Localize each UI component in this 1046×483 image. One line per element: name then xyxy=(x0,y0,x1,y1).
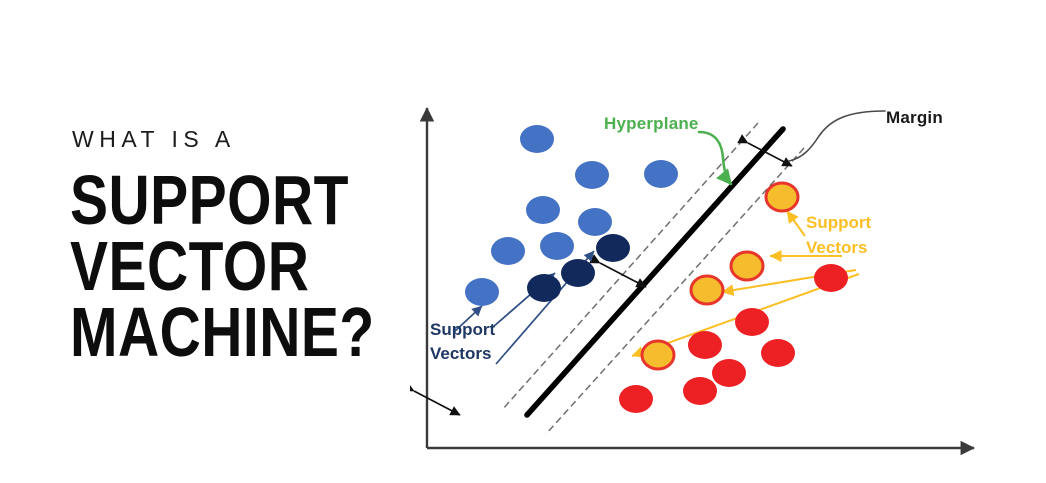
svm-chart-svg xyxy=(410,88,1040,468)
support-vector-blue xyxy=(596,234,630,262)
support-vector-blue xyxy=(561,259,595,287)
data-point-red xyxy=(683,377,717,405)
support-vectors-label-blue: Support Vectors xyxy=(430,318,495,366)
yellow-arrow-up xyxy=(787,211,805,236)
margin-line-lower xyxy=(546,148,804,434)
data-point-blue xyxy=(644,160,678,188)
data-point-blue xyxy=(578,208,612,236)
support-vector-yellow xyxy=(642,341,674,369)
data-point-blue xyxy=(526,196,560,224)
data-point-red xyxy=(712,359,746,387)
margin-leader-line xyxy=(789,111,885,161)
margin-label: Margin xyxy=(886,108,943,128)
title-line-2: VECTOR xyxy=(70,234,309,301)
title-line-3: MACHINE? xyxy=(70,300,375,367)
data-point-red xyxy=(619,385,653,413)
data-point-blue xyxy=(520,125,554,153)
support-vector-yellow xyxy=(691,276,723,304)
support-vectors-label-yellow: Support Vectors xyxy=(806,210,871,260)
data-point-blue xyxy=(491,237,525,265)
data-point-blue xyxy=(575,161,609,189)
svm-chart xyxy=(410,88,1040,468)
data-point-blue xyxy=(540,232,574,260)
support-vector-blue xyxy=(527,274,561,302)
support-vectors-blue-line-2: Vectors xyxy=(430,342,495,366)
svm-infographic: WHAT IS A SUPPORT VECTOR MACHINE? xyxy=(0,0,1046,483)
title-line-1: SUPPORT xyxy=(70,168,349,235)
support-vectors-yellow-line-1: Support xyxy=(806,210,871,235)
hyperplane-label: Hyperplane xyxy=(604,114,699,134)
data-point-red xyxy=(688,331,722,359)
support-vector-yellow xyxy=(766,183,798,211)
headline-block: WHAT IS A SUPPORT VECTOR MACHINE? xyxy=(0,0,420,483)
data-point-red xyxy=(735,308,769,336)
support-vector-yellow xyxy=(731,252,763,280)
margin-arrow-bottom xyxy=(414,391,460,415)
data-point-red xyxy=(814,264,848,292)
eyebrow-text: WHAT IS A xyxy=(72,126,236,153)
support-vectors-yellow-line-2: Vectors xyxy=(806,235,871,260)
data-point-blue xyxy=(465,278,499,306)
margin-arrow-middle xyxy=(600,263,646,287)
data-point-red xyxy=(761,339,795,367)
red-data-points xyxy=(619,264,848,413)
support-vectors-blue-line-1: Support xyxy=(430,318,495,342)
